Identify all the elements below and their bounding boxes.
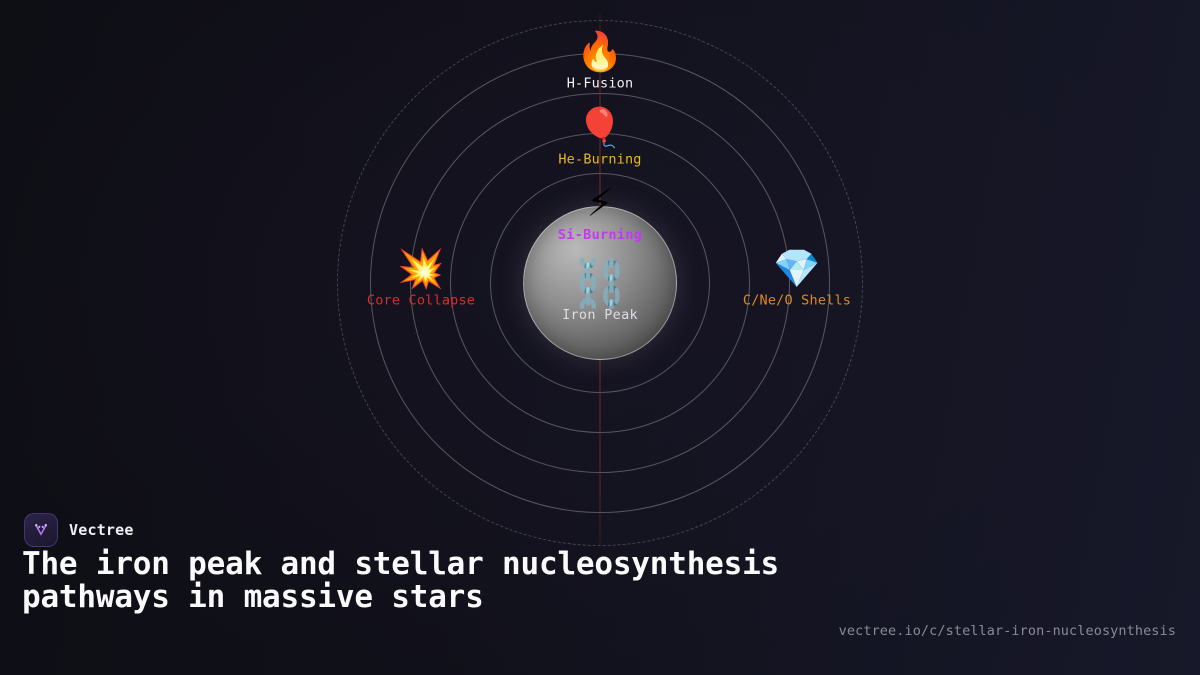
chains-icon: ⛓️	[571, 260, 628, 306]
vectree-v-logo-icon	[24, 513, 58, 547]
core-sublabel: Si-Burning	[558, 227, 642, 243]
node-h-fusion[interactable]: 🔥H-Fusion	[567, 33, 634, 92]
gem-icon: 💎	[743, 250, 851, 288]
orbital-diagram: Si-Burning ⛓️ Iron Peak 🔥H-Fusion🎈He-Bur…	[0, 0, 1200, 560]
balloon-icon: 🎈	[558, 109, 641, 147]
brand-name: Vectree	[69, 521, 134, 539]
node-si-burning-node[interactable]: ⚡	[587, 184, 614, 222]
fire-icon: 🔥	[567, 33, 634, 71]
node-he-burning[interactable]: 🎈He-Burning	[558, 109, 641, 168]
infographic-canvas: Si-Burning ⛓️ Iron Peak 🔥H-Fusion🎈He-Bur…	[0, 0, 1200, 675]
page-title: The iron peak and stellar nucleosynthesi…	[22, 548, 822, 613]
lightning-bolt-icon: ⚡	[587, 184, 614, 222]
node-label-he-burning: He-Burning	[558, 152, 641, 168]
page-url: vectree.io/c/stellar-iron-nucleosynthesi…	[839, 623, 1176, 639]
node-label-core-collapse: Core Collapse	[367, 293, 475, 309]
collision-icon: 💥	[367, 250, 475, 288]
core-label: Iron Peak	[562, 307, 638, 323]
node-label-c-ne-o-shells: C/Ne/O Shells	[743, 293, 851, 309]
brand-row: Vectree	[24, 513, 134, 547]
node-label-h-fusion: H-Fusion	[567, 76, 634, 92]
node-c-ne-o-shells[interactable]: 💎C/Ne/O Shells	[743, 250, 851, 309]
node-core-collapse[interactable]: 💥Core Collapse	[367, 250, 475, 309]
iron-peak-core-sphere[interactable]: Si-Burning ⛓️ Iron Peak	[523, 206, 677, 360]
